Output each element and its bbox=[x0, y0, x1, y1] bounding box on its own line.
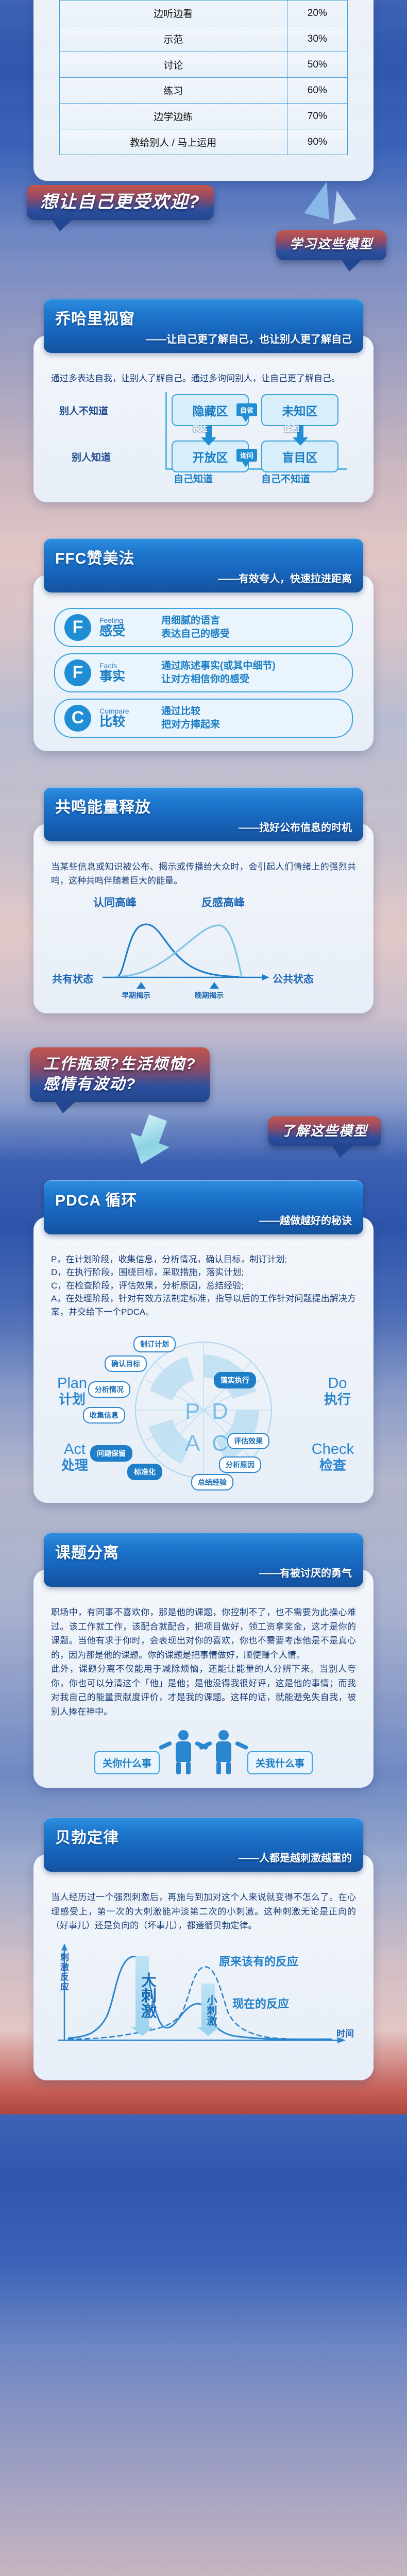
pdca-act-cn: 处理 bbox=[61, 1457, 88, 1474]
table-row: 教给别人 / 马上运用90% bbox=[60, 129, 348, 155]
table-cell-method: 边听边看 bbox=[60, 1, 287, 26]
johari-col-label-0: 自己知道 bbox=[174, 471, 213, 485]
ffc-row-feeling: FFeeling感受用细腻的语言表达自己的感受 bbox=[54, 608, 353, 647]
pdca-card: P，在计划阶段，收集信息，分析情况，确认目标，制订计划; D，在执行阶段，围绕目… bbox=[33, 1217, 374, 1503]
separation-subtitle: ——有被讨厌的勇气 bbox=[55, 1565, 352, 1580]
hero2-action-bubble: 了解这些模型 bbox=[268, 1116, 381, 1147]
ffc-label-2: Compare比较 bbox=[99, 707, 161, 730]
pdca-letter-A: A bbox=[185, 1431, 200, 1456]
hero2-action-text: 了解这些模型 bbox=[281, 1123, 368, 1139]
ffc-title-ribbon: FFC赞美法 ——有效夸人，快速拉进距离 bbox=[44, 538, 363, 592]
resonance-chart: 认同高峰 反感高峰 共有状态 公共状态 早期揭示 晚期揭示 bbox=[49, 894, 358, 1005]
pdca-pill-execute: 落实执行 bbox=[214, 1372, 256, 1388]
bebo-annotation-small: 小刺激 bbox=[203, 1995, 218, 2026]
johari-tag-introspect: 自省 bbox=[236, 403, 257, 416]
hero1-question-bubble: 想让自己更受欢迎? bbox=[27, 185, 214, 220]
johari-arrow-label-contact: 接触 bbox=[284, 423, 299, 434]
bebo-title-ribbon: 贝勃定律 ——人都是越刺激越重的 bbox=[44, 1818, 363, 1872]
ffc-badge-0: F bbox=[64, 614, 91, 641]
table-cell-retention: 90% bbox=[287, 129, 347, 155]
ffc-cn-1: 事实 bbox=[99, 670, 161, 684]
resonance-x-end-label: 公共状态 bbox=[273, 971, 314, 986]
johari-row-label-0: 别人不知道 bbox=[59, 403, 108, 417]
hero1-question-text: 想让自己更受欢迎? bbox=[40, 192, 200, 212]
ffc-cn-0: 感受 bbox=[99, 624, 161, 639]
table-cell-retention: 50% bbox=[287, 52, 347, 78]
pdca-pill-make-plan: 制订计划 bbox=[133, 1336, 176, 1352]
ffc-en-2: Compare bbox=[99, 707, 161, 715]
resonance-body: 当某些信息或知识被公布、揭示或传播给大众时，会引起人们情绪上的强烈共鸣，这种共鸣… bbox=[33, 849, 374, 891]
bebo-chart: 刺激反应 时间 大刺激 小刺激 原来该有的反应 现在的反应 bbox=[49, 1941, 358, 2070]
resonance-tick-marker-1-icon bbox=[210, 982, 219, 989]
pdca-body: P，在计划阶段，收集信息，分析情况，确认目标，制订计划; D，在执行阶段，围绕目… bbox=[33, 1242, 374, 1322]
ffc-desc-0: 用细腻的语言表达自己的感受 bbox=[161, 614, 230, 640]
learning-retention-table: 边听边看20%示范30%讨论50%练习60%边学边练70%教给别人 / 马上运用… bbox=[59, 0, 348, 155]
bebo-annotation-big: 大刺激 bbox=[135, 1972, 158, 2019]
table-cell-method: 示范 bbox=[60, 26, 287, 52]
johari-title: 乔哈里视窗 bbox=[55, 306, 352, 329]
resonance-x-start-label: 共有状态 bbox=[52, 971, 93, 986]
hero1-action-text: 学习这些模型 bbox=[290, 237, 373, 252]
pdca-do-en: Do bbox=[324, 1376, 351, 1391]
learning-retention-table-card: 边听边看20%示范30%讨论50%练习60%边学边练70%教给别人 / 马上运用… bbox=[33, 0, 374, 181]
pdca-check-en: Check bbox=[312, 1442, 354, 1457]
pdca-pill-summarize: 总结经验 bbox=[191, 1474, 233, 1490]
hero2-question-bubble: 工作瓶颈?生活烦恼? 感情有波动? bbox=[30, 1047, 210, 1102]
separation-card: 职场中，有同事不喜欢你，那是他的课题，你控制不了，也不需要为此操心难过。该工作就… bbox=[33, 1569, 374, 1788]
pdca-check-cn: 检查 bbox=[312, 1457, 354, 1474]
section-bebo: 贝勃定律 ——人都是越刺激越重的 当人经历过一个强烈刺激后，再施与到加对这个人来… bbox=[0, 1810, 407, 2080]
johari-title-ribbon: 乔哈里视窗 ——让自己更了解自己，也让别人更了解自己 bbox=[44, 299, 363, 353]
pdca-quadrant-check: Check 检查 bbox=[312, 1442, 354, 1474]
pdca-pill-analyze-cause: 分析原因 bbox=[219, 1456, 261, 1473]
ffc-desc-1: 通过陈述事实(或其中细节)让对方相信你的感受 bbox=[161, 659, 276, 685]
pdca-title: PDCA 循环 bbox=[55, 1188, 352, 1210]
separation-label-mine: 关我什么事 bbox=[247, 1751, 313, 1774]
separation-body: 职场中，有同事不喜欢你，那是他的课题，你控制不了，也不需要为此操心难过。该工作就… bbox=[33, 1594, 374, 1722]
resonance-card: 当某些信息或知识被公布、揭示或传播给大众时，会引起人们情绪上的强烈共鸣，这种共鸣… bbox=[33, 824, 374, 1013]
johari-body: 通过多表达自我，让别人了解自己。通过多询问别人，让自己更了解自己。 bbox=[33, 360, 374, 389]
separation-figures: 关你什么事 关我什么事 bbox=[33, 1722, 374, 1788]
resonance-title: 共鸣能量释放 bbox=[55, 794, 352, 817]
pdca-quadrant-do: Do 执行 bbox=[324, 1376, 351, 1408]
section-pdca: PDCA 循环 ——越做越好的秘诀 P，在计划阶段，收集信息，分析情况，确认目标… bbox=[0, 1173, 407, 1503]
bebo-body: 当人经历过一个强烈刺激后，再施与到加对这个人来说就变得不怎么了。在心理感受上，第… bbox=[33, 1879, 374, 1936]
table-row: 示范30% bbox=[60, 26, 348, 52]
bebo-title: 贝勃定律 bbox=[55, 1825, 352, 1848]
section-ffc: FFC赞美法 ——有效夸人，快速拉进距离 FFeeling感受用细腻的语言表达自… bbox=[0, 531, 407, 751]
ffc-en-0: Feeling bbox=[99, 616, 161, 624]
resonance-tick-marker-0-icon bbox=[137, 982, 146, 989]
resonance-tick-label-1: 晚期揭示 bbox=[195, 990, 224, 1001]
pdca-letter-P: P bbox=[185, 1399, 200, 1425]
footer-strip bbox=[0, 2080, 407, 2114]
table-cell-method: 讨论 bbox=[60, 52, 287, 78]
johari-arrow-label-express: 表达 bbox=[192, 423, 208, 434]
pdca-title-ribbon: PDCA 循环 ——越做越好的秘诀 bbox=[44, 1180, 363, 1234]
pdca-pill-problem-retain: 问题保留 bbox=[90, 1445, 132, 1462]
johari-vertical-axis bbox=[165, 392, 167, 469]
bebo-x-axis-label: 时间 bbox=[336, 2026, 354, 2039]
ffc-cn-2: 比较 bbox=[99, 715, 161, 730]
hero1-action-bubble: 学习这些模型 bbox=[276, 230, 386, 260]
bebo-card: 当人经历过一个强烈刺激后，再施与到加对这个人来说就变得不怎么了。在心理感受上，第… bbox=[33, 1854, 374, 2080]
table-row: 边听边看20% bbox=[60, 1, 348, 26]
pdca-quadrant-plan: Plan 计划 bbox=[57, 1376, 87, 1408]
table-row: 讨论50% bbox=[60, 52, 348, 78]
table-cell-retention: 70% bbox=[287, 104, 347, 129]
section-separation: 课题分离 ——有被讨厌的勇气 职场中，有同事不喜欢你，那是他的课题，你控制不了，… bbox=[0, 1526, 407, 1788]
resonance-subtitle: ——找好公布信息的时机 bbox=[55, 819, 352, 834]
bebo-annotation-current: 现在的反应 bbox=[232, 1995, 289, 2011]
resonance-tick-label-0: 早期揭示 bbox=[122, 990, 150, 1001]
table-cell-method: 边学边练 bbox=[60, 104, 287, 129]
ffc-label-0: Feeling感受 bbox=[99, 616, 161, 639]
pdca-pill-standardize: 标准化 bbox=[127, 1464, 162, 1480]
table-cell-retention: 60% bbox=[287, 78, 347, 104]
separation-label-others: 关你什么事 bbox=[94, 1751, 160, 1774]
pdca-pill-analyze-situation: 分析情况 bbox=[88, 1381, 130, 1398]
resonance-curves-svg bbox=[49, 894, 358, 1005]
hero2-question-line1: 工作瓶颈?生活烦恼? bbox=[43, 1054, 196, 1074]
pdca-quadrant-act: Act 处理 bbox=[61, 1442, 88, 1474]
pdca-plan-cn: 计划 bbox=[57, 1391, 87, 1408]
pdca-plan-en: Plan bbox=[57, 1376, 87, 1391]
ffc-badge-1: F bbox=[64, 659, 91, 686]
johari-col-label-1: 自己不知道 bbox=[261, 471, 310, 485]
johari-card: 通过多表达自我，让别人了解自己。通过多询问别人，让自己更了解自己。 别人不知道 … bbox=[33, 335, 374, 502]
hero-section-popularity: 想让自己更受欢迎? 学习这些模型 bbox=[0, 181, 407, 292]
table-cell-retention: 30% bbox=[287, 26, 347, 52]
ffc-row-facts: FFacts事实通过陈述事实(或其中细节)让对方相信你的感受 bbox=[54, 653, 353, 692]
johari-grid: 别人不知道 别人知道 隐藏区 未知区 开放区 盲目区 自省 询问 表达 接触 自… bbox=[59, 391, 348, 473]
pdca-do-cn: 执行 bbox=[324, 1391, 351, 1408]
bebo-subtitle: ——人都是越刺激越重的 bbox=[55, 1850, 352, 1865]
pdca-pill-assess-effect: 评估效果 bbox=[227, 1433, 269, 1449]
table-row: 边学边练70% bbox=[60, 104, 348, 129]
table-row: 练习60% bbox=[60, 78, 348, 104]
johari-cell-unknown: 未知区 bbox=[261, 394, 338, 426]
johari-row-label-1: 别人知道 bbox=[72, 450, 111, 464]
person-figure-icon-2 bbox=[207, 1730, 240, 1774]
bebo-y-axis-label: 刺激反应 bbox=[60, 1953, 72, 1992]
ffc-subtitle: ——有效夸人，快速拉进距离 bbox=[55, 570, 352, 585]
hero2-question-line2: 感情有波动? bbox=[43, 1074, 196, 1094]
ffc-card: FFeeling感受用细腻的语言表达自己的感受FFacts事实通过陈述事实(或其… bbox=[33, 575, 374, 751]
pdca-pill-collect-info: 收集信息 bbox=[83, 1407, 125, 1423]
ffc-badge-2: C bbox=[64, 705, 91, 732]
shard-decoration-icon-2 bbox=[327, 188, 357, 224]
pdca-diagram: P D C A Plan 计划 Do 执行 Check 检查 Act 处理 制订… bbox=[44, 1324, 363, 1494]
ffc-en-1: Facts bbox=[99, 662, 161, 670]
hero-section-work: 工作瓶颈?生活烦恼? 感情有波动? 了解这些模型 bbox=[0, 1039, 407, 1173]
separation-title: 课题分离 bbox=[55, 1540, 352, 1563]
johari-tag-ask: 询问 bbox=[236, 449, 257, 462]
section-johari: 乔哈里视窗 ——让自己更了解自己，也让别人更了解自己 通过多表达自我，让别人了解… bbox=[0, 292, 407, 502]
pdca-letter-D: D bbox=[212, 1399, 228, 1425]
separation-title-ribbon: 课题分离 ——有被讨厌的勇气 bbox=[44, 1533, 363, 1587]
person-figure-icon-1 bbox=[167, 1730, 200, 1774]
table-cell-retention: 20% bbox=[287, 1, 347, 26]
section-resonance: 共鸣能量释放 ——找好公布信息的时机 当某些信息或知识被公布、揭示或传播给大众时… bbox=[0, 780, 407, 1013]
table-cell-method: 教给别人 / 马上运用 bbox=[60, 129, 287, 155]
pdca-act-en: Act bbox=[61, 1442, 88, 1457]
resonance-title-ribbon: 共鸣能量释放 ——找好公布信息的时机 bbox=[44, 787, 363, 841]
ffc-row-compare: CCompare比较通过比较把对方捧起来 bbox=[54, 699, 353, 738]
ffc-title: FFC赞美法 bbox=[55, 546, 352, 568]
bebo-annotation-original: 原来该有的反应 bbox=[219, 1953, 298, 1969]
pdca-letter-C: C bbox=[212, 1431, 228, 1456]
pdca-pill-confirm-goal: 确认目标 bbox=[105, 1355, 147, 1372]
table-cell-method: 练习 bbox=[60, 78, 287, 104]
down-arrow-decoration-icon bbox=[122, 1110, 179, 1172]
ffc-label-1: Facts事实 bbox=[99, 662, 161, 684]
ffc-desc-2: 通过比较把对方捧起来 bbox=[161, 705, 220, 731]
johari-subtitle: ——让自己更了解自己，也让别人更了解自己 bbox=[55, 331, 352, 346]
pdca-subtitle: ——越做越好的秘诀 bbox=[55, 1212, 352, 1227]
